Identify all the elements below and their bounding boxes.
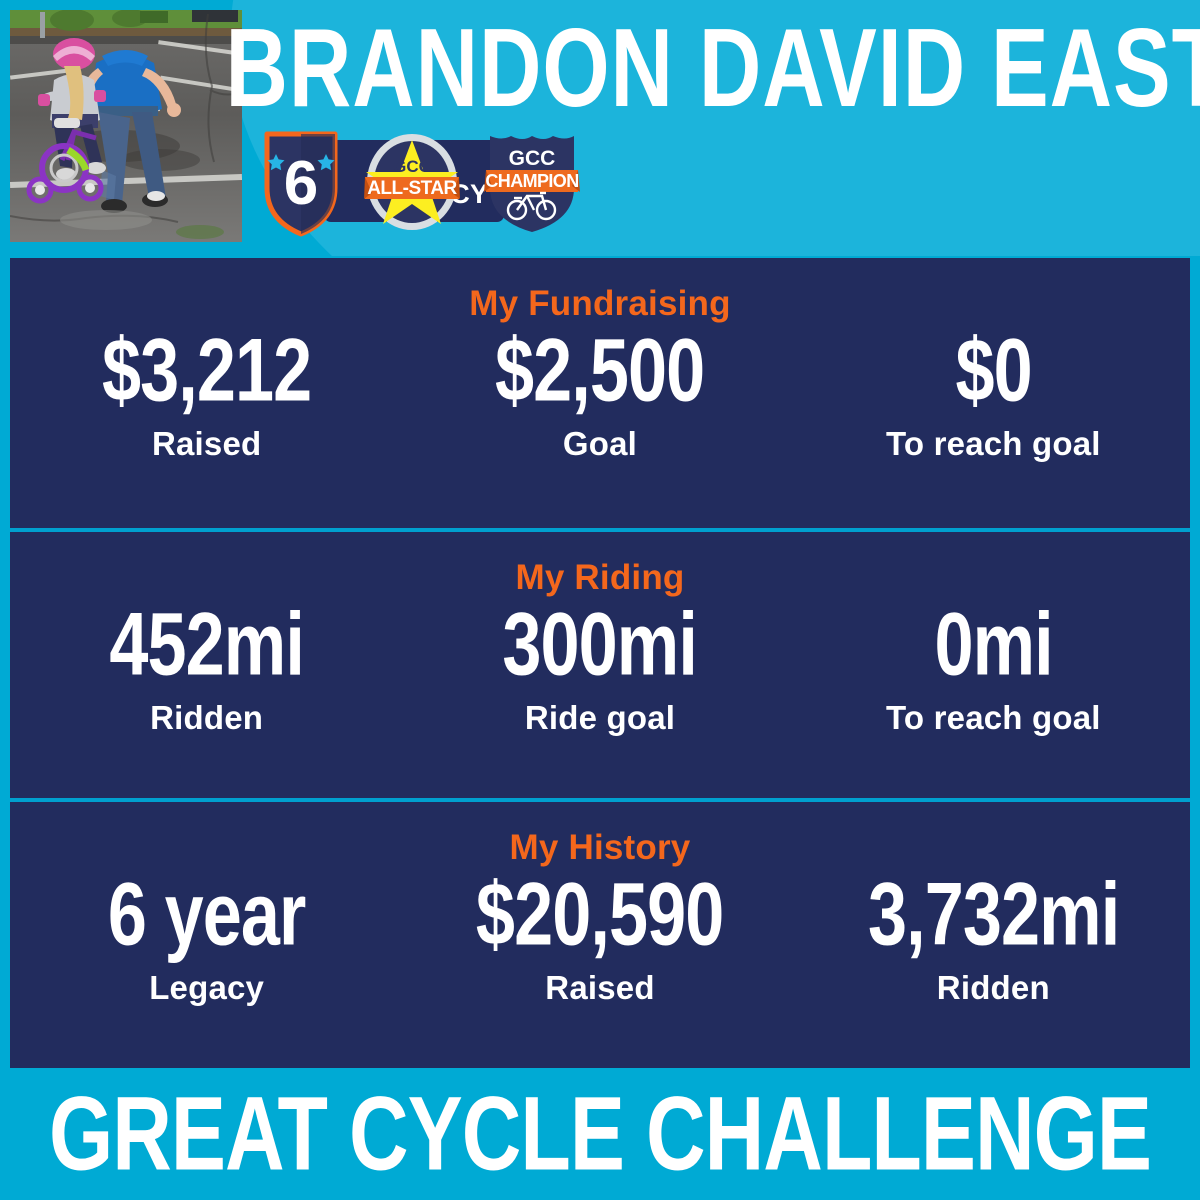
stat-miles-to-reach-goal-label: To reach goal bbox=[797, 699, 1190, 737]
stat-legacy-label: Legacy bbox=[10, 969, 403, 1007]
stat-to-reach-goal-value: $0 bbox=[816, 324, 1170, 416]
stat-ride-goal: 300mi Ride goal bbox=[403, 604, 796, 737]
stat-ride-goal-label: Ride goal bbox=[403, 699, 796, 737]
footer-brand-text: GREAT CYCLE CHALLENGE bbox=[49, 1082, 1151, 1187]
rider-name: BRANDON DAVID EAST bbox=[252, 18, 1198, 118]
rider-name-text: BRANDON DAVID EAST bbox=[225, 15, 1200, 120]
all-star-badge-banner-text: ALL-STAR bbox=[367, 178, 457, 199]
fundraiser-card: BRANDON DAVID EAST YEAR LEGACY 6 bbox=[0, 0, 1200, 1200]
panel-history-title: My History bbox=[10, 828, 1190, 868]
panel-history: My History 6 year Legacy $20,590 Raised … bbox=[10, 798, 1190, 1068]
stat-raised: $3,212 Raised bbox=[10, 330, 403, 463]
stat-miles-to-reach-goal: 0mi To reach goal bbox=[797, 604, 1190, 737]
stat-lifetime-raised-label: Raised bbox=[403, 969, 796, 1007]
stat-raised-value: $3,212 bbox=[30, 324, 384, 416]
legacy-badge[interactable]: YEAR LEGACY 6 bbox=[262, 126, 340, 238]
panel-riding-title: My Riding bbox=[10, 558, 1190, 598]
champion-badge[interactable]: GCC CHAMPION bbox=[484, 130, 580, 234]
champion-badge-banner-text: CHAMPION bbox=[485, 171, 578, 191]
header: BRANDON DAVID EAST YEAR LEGACY 6 bbox=[0, 0, 1200, 256]
footer-brand: GREAT CYCLE CHALLENGE bbox=[0, 1068, 1200, 1200]
stat-to-reach-goal: $0 To reach goal bbox=[797, 330, 1190, 463]
stat-goal: $2,500 Goal bbox=[403, 330, 796, 463]
stat-miles-to-reach-goal-value: 0mi bbox=[816, 598, 1170, 690]
panel-history-stats: 6 year Legacy $20,590 Raised 3,732mi Rid… bbox=[10, 874, 1190, 1007]
champion-badge-top-text: GCC bbox=[509, 147, 556, 170]
rider-photo bbox=[10, 10, 242, 242]
legacy-badge-number: 6 bbox=[284, 149, 318, 218]
stat-to-reach-goal-label: To reach goal bbox=[797, 425, 1190, 463]
stat-lifetime-raised-value: $20,590 bbox=[423, 868, 777, 960]
stat-ridden-label: Ridden bbox=[10, 699, 403, 737]
panel-fundraising: My Fundraising $3,212 Raised $2,500 Goal… bbox=[10, 258, 1190, 528]
stat-goal-value: $2,500 bbox=[423, 324, 777, 416]
panel-riding: My Riding 452mi Ridden 300mi Ride goal 0… bbox=[10, 528, 1190, 798]
shield-icon: 6 bbox=[262, 126, 340, 238]
stat-lifetime-ridden: 3,732mi Ridden bbox=[797, 874, 1190, 1007]
rider-photo-illustration bbox=[10, 10, 242, 242]
stat-goal-label: Goal bbox=[403, 425, 796, 463]
badge-row: YEAR LEGACY 6 bbox=[262, 126, 580, 238]
panel-riding-stats: 452mi Ridden 300mi Ride goal 0mi To reac… bbox=[10, 604, 1190, 737]
stats-panels: My Fundraising $3,212 Raised $2,500 Goal… bbox=[10, 258, 1190, 1068]
stat-raised-label: Raised bbox=[10, 425, 403, 463]
stat-lifetime-raised: $20,590 Raised bbox=[403, 874, 796, 1007]
all-star-badge-top-text: GCC bbox=[393, 157, 431, 176]
stat-ridden-value: 452mi bbox=[30, 598, 384, 690]
panel-fundraising-title: My Fundraising bbox=[10, 284, 1190, 324]
stat-ride-goal-value: 300mi bbox=[423, 598, 777, 690]
stat-lifetime-ridden-label: Ridden bbox=[797, 969, 1190, 1007]
stat-legacy-value: 6 year bbox=[30, 868, 384, 960]
stat-ridden: 452mi Ridden bbox=[10, 604, 403, 737]
stat-lifetime-ridden-value: 3,732mi bbox=[816, 868, 1170, 960]
stat-legacy: 6 year Legacy bbox=[10, 874, 403, 1007]
panel-fundraising-stats: $3,212 Raised $2,500 Goal $0 To reach go… bbox=[10, 330, 1190, 463]
all-star-badge[interactable]: GCC ALL-STAR bbox=[364, 132, 460, 232]
